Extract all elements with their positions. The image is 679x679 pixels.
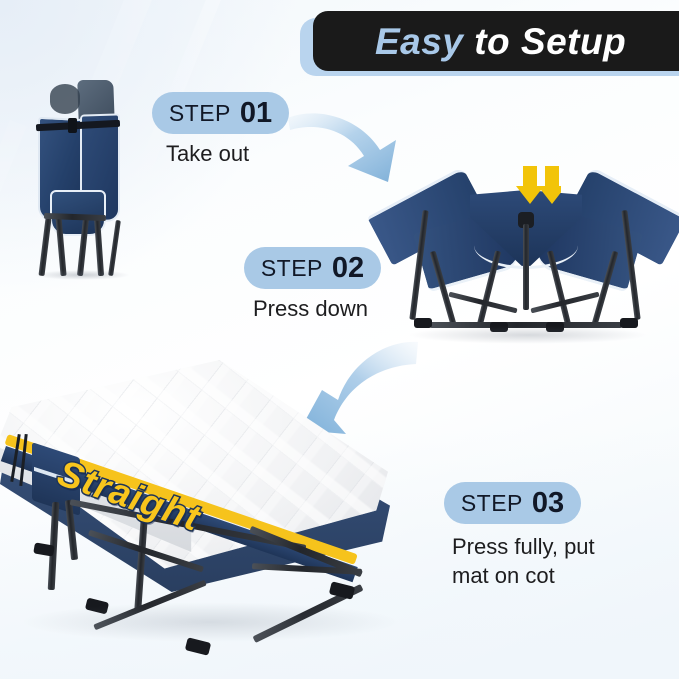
title-word-to-setup: to Setup [474,21,626,62]
title-banner-body: Easy to Setup [313,11,679,71]
step-03-number: 03 [532,487,564,520]
cot-leg [108,220,121,276]
cot-top-inner-shadow [50,84,80,114]
step-02-number: 02 [332,252,364,285]
step-03-pill[interactable]: STEP 03 [444,482,581,524]
cot-shadow [408,326,648,344]
title-banner: Easy to Setup [300,8,679,78]
cot-foot [33,542,55,556]
cot-leg-shadow [34,270,130,280]
cot-center-leg [523,224,529,310]
page-title: Easy to Setup [375,23,626,60]
step-01-label: STEP [169,100,231,127]
infographic-canvas: Easy to Setup STEP 01 Take out [0,0,679,679]
step-01-pill[interactable]: STEP 01 [152,92,289,134]
cot-leg [38,218,51,276]
press-down-arrows [515,166,561,204]
step-03-caption: Press fully, put mat on cot [452,532,595,590]
step-01-caption: Take out [166,139,249,168]
step-01-number: 01 [240,97,272,130]
cot-shadow [20,602,400,642]
title-word-easy: Easy [375,21,463,62]
folded-cot-image [28,78,138,278]
carry-strap-buckle [68,118,77,133]
step-02-label: STEP [261,255,323,282]
step-02-caption: Press down [253,294,368,323]
step-03-label: STEP [461,490,523,517]
step-02-pill[interactable]: STEP 02 [244,247,381,289]
